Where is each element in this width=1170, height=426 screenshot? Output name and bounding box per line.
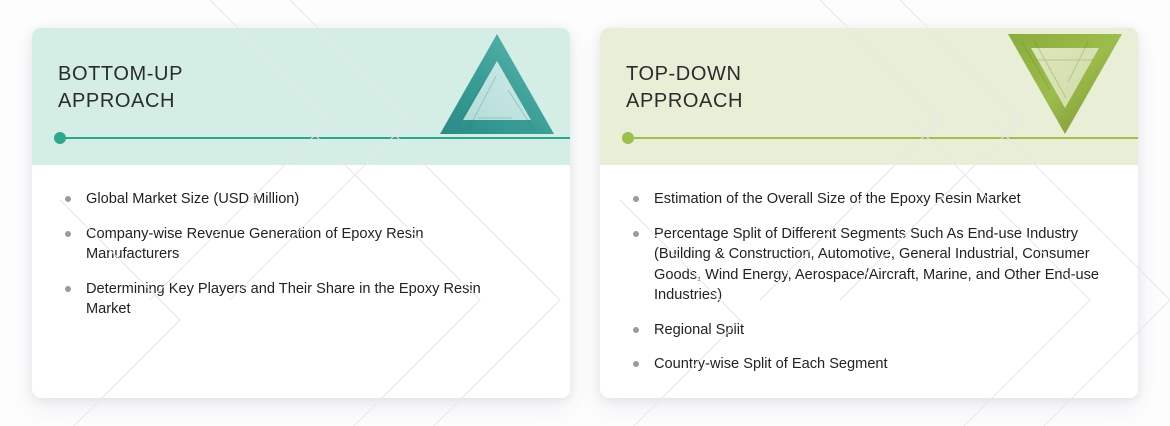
card-title-top-down: TOP-DOWN APPROACH [626, 61, 743, 115]
list-item-label: Determining Key Players and Their Share … [86, 279, 518, 320]
header-rule-dot [54, 132, 66, 144]
bullet-list-top-down: Estimation of the Overall Size of the Ep… [626, 189, 1112, 375]
list-item-label: Regional Split [654, 320, 1112, 341]
triangle-down-icon [1006, 30, 1124, 138]
card-body-top-down: Estimation of the Overall Size of the Ep… [600, 165, 1138, 375]
approach-comparison: BOTTOM-UP APPROACH [0, 0, 1170, 426]
list-item-label: Percentage Split of Different Segments S… [654, 224, 1112, 306]
card-title-bottom-up: BOTTOM-UP APPROACH [58, 61, 183, 115]
list-item: Company-wise Revenue Generation of Epoxy… [58, 224, 544, 265]
triangle-up-icon [438, 30, 556, 138]
list-item: Global Market Size (USD Million) [58, 189, 544, 210]
card-top-down: TOP-DOWN APPROACH [600, 28, 1138, 398]
list-item-label: Company-wise Revenue Generation of Epoxy… [86, 224, 518, 265]
list-item: Percentage Split of Different Segments S… [626, 224, 1112, 306]
card-bottom-up: BOTTOM-UP APPROACH [32, 28, 570, 398]
list-item: Estimation of the Overall Size of the Ep… [626, 189, 1112, 210]
bullet-list-bottom-up: Global Market Size (USD Million) Company… [58, 189, 544, 320]
list-item: Determining Key Players and Their Share … [58, 279, 544, 320]
list-item-label: Global Market Size (USD Million) [86, 189, 518, 210]
card-header-top-down: TOP-DOWN APPROACH [600, 28, 1138, 165]
card-body-bottom-up: Global Market Size (USD Million) Company… [32, 165, 570, 320]
list-item-label: Estimation of the Overall Size of the Ep… [654, 189, 1112, 210]
list-item: Regional Split [626, 320, 1112, 341]
header-rule-dot [622, 132, 634, 144]
list-item-label: Country-wise Split of Each Segment [654, 354, 1112, 375]
card-header-bottom-up: BOTTOM-UP APPROACH [32, 28, 570, 165]
list-item: Country-wise Split of Each Segment [626, 354, 1112, 375]
